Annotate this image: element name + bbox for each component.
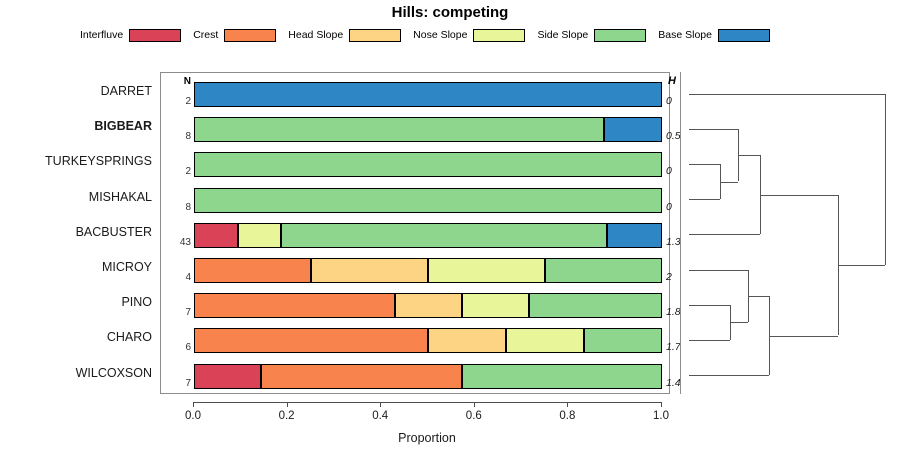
bar-microy (194, 258, 662, 283)
row-label-pino: PINO (5, 295, 158, 309)
legend-label: Base Slope (658, 29, 712, 41)
bar-turkeysprings (194, 152, 662, 177)
bar-pino (194, 293, 662, 318)
n-value: 8 (161, 131, 191, 142)
row-label-turkeysprings: TURKEYSPRINGS (5, 154, 158, 168)
legend-item: Crest (193, 29, 276, 42)
legend: InterfluveCrestHead SlopeNose SlopeSide … (80, 26, 840, 44)
bar-segment (194, 258, 311, 283)
legend-label: Side Slope (537, 29, 588, 41)
bar-segment (428, 328, 506, 353)
bar-segment (194, 82, 662, 107)
bar-segment (604, 117, 663, 142)
row-label-bigbear: BIGBEAR (5, 119, 158, 133)
plot-area: N 2828434767 (160, 72, 670, 394)
dendrogram-branch (689, 375, 769, 376)
bar-segment (261, 364, 462, 389)
legend-item: Base Slope (658, 29, 770, 42)
bar-segment (506, 328, 584, 353)
bar-segment (584, 328, 662, 353)
dendrogram-branch (689, 270, 748, 271)
row-label-microy: MICROY (5, 260, 158, 274)
n-value: 6 (161, 342, 191, 353)
legend-swatch (473, 29, 525, 42)
legend-label: Head Slope (288, 29, 343, 41)
dendrogram-branch (730, 322, 748, 323)
dendrogram-left-border (680, 72, 681, 394)
n-value: 7 (161, 307, 191, 318)
x-axis-line (193, 402, 661, 403)
bar-segment (194, 293, 395, 318)
legend-item: Interfluve (80, 29, 181, 42)
dendrogram-branch (885, 94, 886, 266)
legend-item: Side Slope (537, 29, 646, 42)
bar-darret (194, 82, 662, 107)
legend-label: Interfluve (80, 29, 123, 41)
bar-segment (194, 223, 238, 248)
bar-segment (545, 258, 662, 283)
bar-wilcoxson (194, 364, 662, 389)
bar-segment (194, 152, 662, 177)
chart-root: Hills: competing InterfluveCrestHead Slo… (0, 0, 900, 460)
n-value: 43 (161, 237, 191, 248)
legend-item: Head Slope (288, 29, 401, 42)
x-axis-tick-label: 0.6 (454, 410, 494, 422)
dendrogram-branch (689, 164, 720, 165)
bar-bigbear (194, 117, 662, 142)
dendrogram-branch (720, 182, 738, 183)
legend-swatch (129, 29, 181, 42)
n-column-header: N (161, 76, 191, 87)
n-value: 7 (161, 378, 191, 389)
bar-segment (194, 364, 261, 389)
dendrogram-branch (689, 94, 885, 95)
bar-segment (194, 328, 428, 353)
n-value: 2 (161, 166, 191, 177)
dendrogram-branch (760, 195, 838, 196)
x-axis-tick (287, 402, 288, 407)
row-label-charo: CHARO (5, 330, 158, 344)
bar-segment (395, 293, 462, 318)
dendrogram-branch (838, 265, 885, 266)
x-axis-tick-label: 0.8 (547, 410, 587, 422)
legend-swatch (718, 29, 770, 42)
x-axis-tick-label: 0.0 (173, 410, 213, 422)
bar-segment (607, 223, 662, 248)
x-axis-tick-label: 0.2 (267, 410, 307, 422)
legend-item: Nose Slope (413, 29, 525, 42)
dendrogram-branch (689, 199, 720, 200)
bar-segment (462, 293, 529, 318)
x-axis-tick-label: 0.4 (360, 410, 400, 422)
bar-segment (529, 293, 662, 318)
legend-swatch (349, 29, 401, 42)
legend-label: Nose Slope (413, 29, 467, 41)
dendrogram (680, 72, 895, 394)
bar-charo (194, 328, 662, 353)
dendrogram-branch (748, 296, 769, 297)
row-label-mishakal: MISHAKAL (5, 190, 158, 204)
bar-segment (311, 258, 428, 283)
bar-segment (428, 258, 545, 283)
dendrogram-branch (689, 234, 760, 235)
x-axis-tick-label: 1.0 (641, 410, 681, 422)
row-label-darret: DARRET (5, 84, 158, 98)
x-axis-tick (474, 402, 475, 407)
dendrogram-branch (769, 336, 838, 337)
bar-segment (281, 223, 607, 248)
x-axis-title: Proportion (327, 431, 527, 445)
row-label-wilcoxson: WILCOXSON (5, 366, 158, 380)
dendrogram-branch (689, 129, 738, 130)
dendrogram-branch (689, 340, 730, 341)
n-value: 2 (161, 96, 191, 107)
legend-label: Crest (193, 29, 218, 41)
legend-swatch (224, 29, 276, 42)
dendrogram-branch (689, 305, 730, 306)
n-value: 4 (161, 272, 191, 283)
x-axis-tick (380, 402, 381, 407)
x-axis-tick (661, 402, 662, 407)
n-value: 8 (161, 202, 191, 213)
x-axis-tick (193, 402, 194, 407)
bar-segment (462, 364, 662, 389)
row-label-bacbuster: BACBUSTER (5, 225, 158, 239)
dendrogram-branch (738, 155, 760, 156)
bar-segment (238, 223, 282, 248)
x-axis-tick (567, 402, 568, 407)
bar-mishakal (194, 188, 662, 213)
bar-segment (194, 117, 604, 142)
legend-swatch (594, 29, 646, 42)
chart-title: Hills: competing (0, 4, 900, 21)
bar-segment (194, 188, 662, 213)
bar-bacbuster (194, 223, 662, 248)
